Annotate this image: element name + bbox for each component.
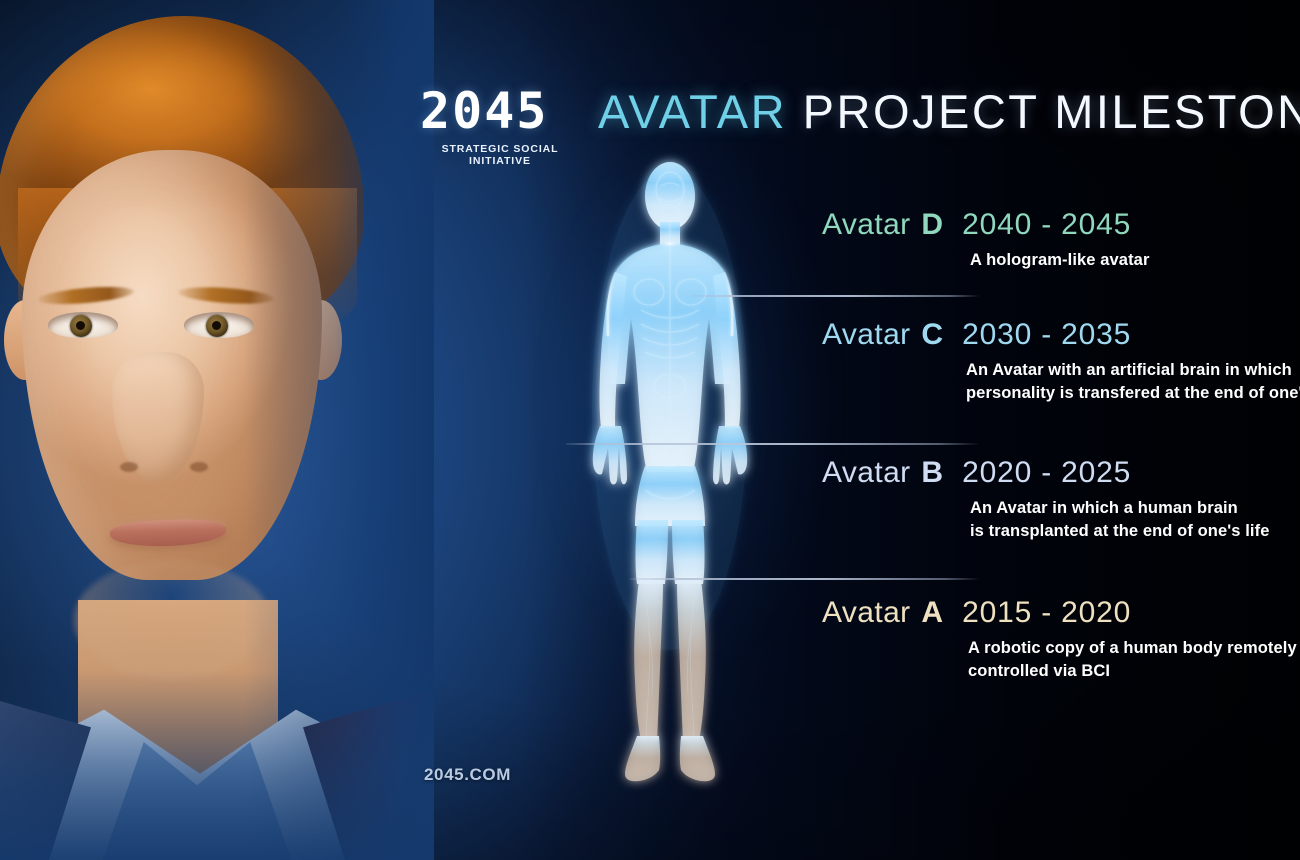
milestone-c-years: 2030 - 2035 <box>962 318 1131 351</box>
milestone-a-letter: A <box>919 596 945 629</box>
human-body-figure <box>575 160 765 800</box>
site-watermark[interactable]: 2045.COM <box>424 765 511 785</box>
milestone-d-desc-line-1: A hologram-like avatar <box>970 249 1149 272</box>
milestone-b-desc-line-2: is transplanted at the end of one's life <box>970 520 1269 543</box>
milestone-b-label: Avatar <box>822 456 911 489</box>
milestone-avatar-a[interactable]: Avatar A 2015 - 2020 A robotic copy of a… <box>822 598 1297 683</box>
milestone-b-description: An Avatar in which a human brain is tran… <box>970 497 1269 543</box>
milestone-c-description: An Avatar with an artificial brain in wh… <box>966 359 1300 405</box>
milestone-d-description: A hologram-like avatar <box>970 249 1149 272</box>
milestone-a-description: A robotic copy of a human body remotely … <box>968 637 1297 683</box>
logo-mark-2045: 2045 <box>420 86 580 136</box>
milestone-d-label: Avatar <box>822 208 911 241</box>
milestone-a-desc-line-2: controlled via BCI <box>968 660 1297 683</box>
milestone-d-heading: Avatar D 2040 - 2045 <box>822 210 1149 240</box>
brand-logo[interactable]: 2045 STRATEGIC SOCIAL INITIATIVE <box>420 86 580 167</box>
logo-tagline: STRATEGIC SOCIAL INITIATIVE <box>420 143 580 167</box>
milestone-c-heading: Avatar C 2030 - 2035 <box>822 320 1300 350</box>
connector-rule-d <box>692 295 980 297</box>
page-title: AVATAR PROJECT MILESTONES <box>598 88 1300 135</box>
page-title-rest: PROJECT MILESTONES <box>803 85 1300 138</box>
milestone-b-letter: B <box>919 456 945 489</box>
milestone-b-desc-line-1: An Avatar in which a human brain <box>970 497 1269 520</box>
portrait-photo <box>0 0 434 860</box>
portrait-bottom-fade <box>0 670 434 860</box>
milestone-a-label: Avatar <box>822 596 911 629</box>
milestone-a-desc-line-1: A robotic copy of a human body remotely <box>968 637 1297 660</box>
milestone-c-desc-line-1: An Avatar with an artificial brain in wh… <box>966 359 1300 382</box>
milestone-c-label: Avatar <box>822 318 911 351</box>
milestone-avatar-b[interactable]: Avatar B 2020 - 2025 An Avatar in which … <box>822 458 1269 543</box>
milestone-a-heading: Avatar A 2015 - 2020 <box>822 598 1297 628</box>
milestone-b-years: 2020 - 2025 <box>962 456 1131 489</box>
milestone-c-letter: C <box>919 318 945 351</box>
infographic-canvas: 2045 STRATEGIC SOCIAL INITIATIVE AVATAR … <box>0 0 1300 860</box>
milestone-avatar-c[interactable]: Avatar C 2030 - 2035 An Avatar with an a… <box>822 320 1300 405</box>
milestone-a-years: 2015 - 2020 <box>962 596 1131 629</box>
milestone-b-heading: Avatar B 2020 - 2025 <box>822 458 1269 488</box>
milestone-d-years: 2040 - 2045 <box>962 208 1131 241</box>
milestone-c-desc-line-2: personality is transfered at the end of … <box>966 382 1300 405</box>
connector-rule-b <box>630 578 980 580</box>
connector-rule-c <box>566 443 980 445</box>
page-title-accent: AVATAR <box>598 85 787 138</box>
milestone-d-letter: D <box>919 208 945 241</box>
milestone-avatar-d[interactable]: Avatar D 2040 - 2045 A hologram-like ava… <box>822 210 1149 272</box>
